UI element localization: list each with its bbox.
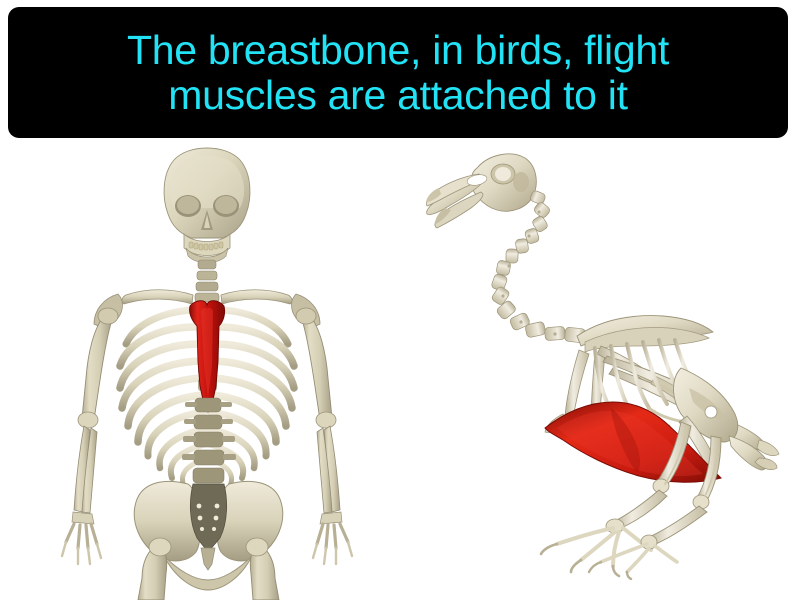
human-skeleton-illustration [60,138,410,600]
bird-skeleton-illustration [425,140,795,580]
human-right-arm [296,308,352,564]
human-left-arm [62,308,118,564]
title-banner: The breastbone, in birds, flight muscles… [8,7,788,138]
title-line-1: The breastbone, in birds, flight [127,28,669,73]
illustration-area [0,138,800,600]
human-skull [164,148,250,263]
bird-skull [426,154,536,228]
definition-card: The breastbone, in birds, flight muscles… [0,0,800,600]
title-line-2: muscles are attached to it [168,73,627,118]
